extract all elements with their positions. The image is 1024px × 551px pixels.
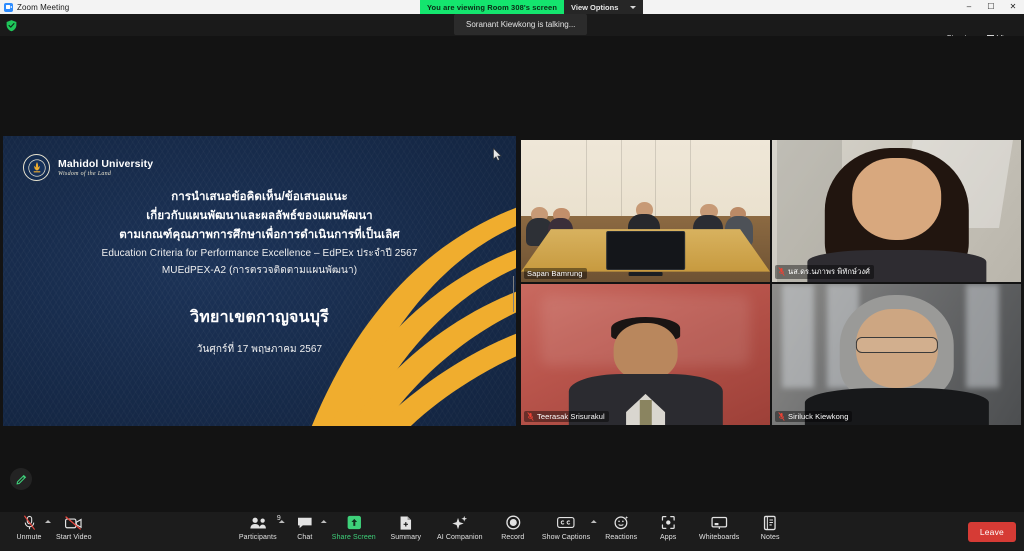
- show-captions-label: Show Captions: [542, 534, 590, 541]
- participant-video-grid: Sapan Bamrung นส.ดร.นภาพร พิทักษ์วง: [521, 140, 1021, 425]
- monitor-stand: [628, 272, 663, 276]
- share-screen-button[interactable]: Share Screen: [326, 515, 382, 549]
- microphone-off-icon: [778, 267, 785, 276]
- participant-glasses: [855, 337, 937, 353]
- toolbar-left-group: Unmute Start Video: [8, 515, 98, 549]
- tile-name-badge: Siriluck Kiewkong: [775, 411, 852, 422]
- reactions-label: Reactions: [605, 534, 637, 541]
- chat-label: Chat: [297, 534, 312, 541]
- active-speaker-toast: Soranant Kiewkong is talking...: [454, 14, 587, 35]
- ai-companion-button[interactable]: AI Companion: [430, 515, 490, 549]
- start-video-label: Start Video: [56, 534, 92, 541]
- participants-label: Participants: [239, 534, 277, 541]
- emoji-smile-icon: [614, 515, 629, 531]
- minimize-icon[interactable]: –: [958, 0, 980, 14]
- tile-name-badge: Sapan Bamrung: [524, 268, 587, 279]
- maximize-icon[interactable]: ☐: [980, 0, 1002, 14]
- show-captions-button[interactable]: Show Captions: [536, 515, 596, 549]
- window-controls: – ☐ ✕: [958, 0, 1024, 14]
- slide-english-line: Education Criteria for Performance Excel…: [3, 245, 516, 262]
- apps-icon: [661, 515, 676, 531]
- whiteboard-icon: [711, 515, 728, 531]
- leave-button[interactable]: Leave: [968, 522, 1016, 542]
- close-icon[interactable]: ✕: [1002, 0, 1024, 14]
- slide-text-block: การนำเสนอข้อคิดเห็น/ข้อเสนอแนะ เกี่ยวกับ…: [3, 188, 516, 357]
- captions-icon: [557, 515, 575, 531]
- record-label: Record: [501, 534, 524, 541]
- screen-share-banner: You are viewing Room 308's screen View O…: [420, 0, 643, 14]
- window-title: Zoom Meeting: [17, 3, 69, 12]
- share-screen-label: Share Screen: [332, 534, 376, 541]
- tile-name-badge: Teerasak Srisurakul: [524, 411, 609, 422]
- view-options-button[interactable]: View Options: [564, 0, 643, 14]
- whiteboards-button[interactable]: Whiteboards: [690, 515, 748, 549]
- record-circle-icon: [505, 515, 520, 531]
- logo-text-block: Mahidol University Wisdom of the Land: [58, 158, 153, 177]
- meeting-toolbar: Unmute Start Video: [0, 512, 1024, 551]
- slide-campus-name: วิทยาเขตกาญจนบุรี: [3, 305, 516, 330]
- notes-icon: [763, 515, 777, 531]
- unmute-button[interactable]: Unmute: [8, 515, 50, 549]
- zoom-camera-icon: [4, 3, 13, 12]
- chat-bubble-icon: [297, 515, 313, 531]
- sparkle-icon: [452, 515, 468, 531]
- mouse-cursor-icon: [493, 148, 502, 166]
- toolbar-right-group: Leave: [968, 522, 1016, 542]
- shield-check-icon[interactable]: [5, 19, 18, 32]
- university-tagline: Wisdom of the Land: [58, 171, 153, 177]
- toolbar-center-group: 9 Participants Chat: [232, 515, 792, 549]
- microphone-off-icon: [778, 412, 785, 421]
- zoom-meeting-window: Zoom Meeting – ☐ ✕ You are viewing Room …: [0, 0, 1024, 551]
- shared-screen-slide[interactable]: Mahidol University Wisdom of the Land กา…: [3, 136, 516, 426]
- ai-companion-label: AI Companion: [437, 534, 483, 541]
- participants-button[interactable]: 9 Participants: [232, 515, 284, 549]
- reactions-button[interactable]: Reactions: [596, 515, 646, 549]
- participant-name: Sapan Bamrung: [527, 269, 583, 278]
- share-screen-icon: [346, 515, 361, 531]
- start-video-button[interactable]: Start Video: [50, 515, 98, 549]
- university-name: Mahidol University: [58, 158, 153, 170]
- slide-thai-line-2: เกี่ยวกับแผนพัฒนาและผลลัพธ์ของแผนพัฒนา: [3, 207, 516, 226]
- summary-button[interactable]: Summary: [382, 515, 430, 549]
- participant-tie: [639, 400, 651, 425]
- whiteboards-label: Whiteboards: [699, 534, 739, 541]
- slide-date: วันศุกร์ที่ 17 พฤษภาคม 2567: [3, 342, 516, 357]
- university-seal-icon: [23, 154, 50, 181]
- view-options-label: View Options: [571, 3, 618, 12]
- slide-thai-line-3: ตามเกณฑ์คุณภาพการศึกษาเพื่อการดำเนินการท…: [3, 226, 516, 245]
- chevron-down-icon: [630, 6, 636, 9]
- annotate-button[interactable]: [10, 468, 32, 490]
- tile-name-badge: นส.ดร.นภาพร พิทักษ์วงศ์: [775, 265, 874, 279]
- video-tile-teerasak-srisurakul[interactable]: Teerasak Srisurakul: [521, 284, 770, 426]
- notes-button[interactable]: Notes: [748, 515, 792, 549]
- people-icon: [248, 515, 267, 531]
- notes-label: Notes: [761, 534, 780, 541]
- microphone-off-icon: [22, 515, 37, 531]
- pencil-icon: [15, 473, 28, 486]
- apps-label: Apps: [660, 534, 676, 541]
- participant-name: Siriluck Kiewkong: [788, 412, 848, 421]
- slide-thai-line-1: การนำเสนอข้อคิดเห็น/ข้อเสนอแนะ: [3, 188, 516, 207]
- microphone-off-icon: [527, 412, 534, 421]
- meeting-stage: Mahidol University Wisdom of the Land กา…: [0, 36, 1024, 512]
- apps-button[interactable]: Apps: [646, 515, 690, 549]
- share-status-label: You are viewing Room 308's screen: [420, 0, 564, 14]
- chat-button[interactable]: Chat: [284, 515, 326, 549]
- record-button[interactable]: Record: [490, 515, 536, 549]
- summary-doc-icon: [399, 515, 413, 531]
- participant-face: [613, 323, 678, 380]
- unmute-label: Unmute: [16, 534, 41, 541]
- participant-name: นส.ดร.นภาพร พิทักษ์วงศ์: [788, 266, 870, 278]
- video-tile-siriluck-kiewkong[interactable]: Siriluck Kiewkong: [772, 284, 1021, 426]
- video-tile-sapan-bamrung[interactable]: Sapan Bamrung: [521, 140, 770, 282]
- mahidol-logo: Mahidol University Wisdom of the Land: [23, 154, 153, 181]
- video-tile-thai-participant[interactable]: นส.ดร.นภาพร พิทักษ์วงศ์: [772, 140, 1021, 282]
- participant-face: [852, 158, 942, 240]
- summary-label: Summary: [390, 534, 421, 541]
- room-monitor: [606, 231, 686, 271]
- participant-name: Teerasak Srisurakul: [537, 412, 605, 421]
- video-off-icon: [64, 515, 83, 531]
- slide-code-line: MUEdPEX-A2 (การตรวจติดตามแผนพัฒนา): [3, 262, 516, 279]
